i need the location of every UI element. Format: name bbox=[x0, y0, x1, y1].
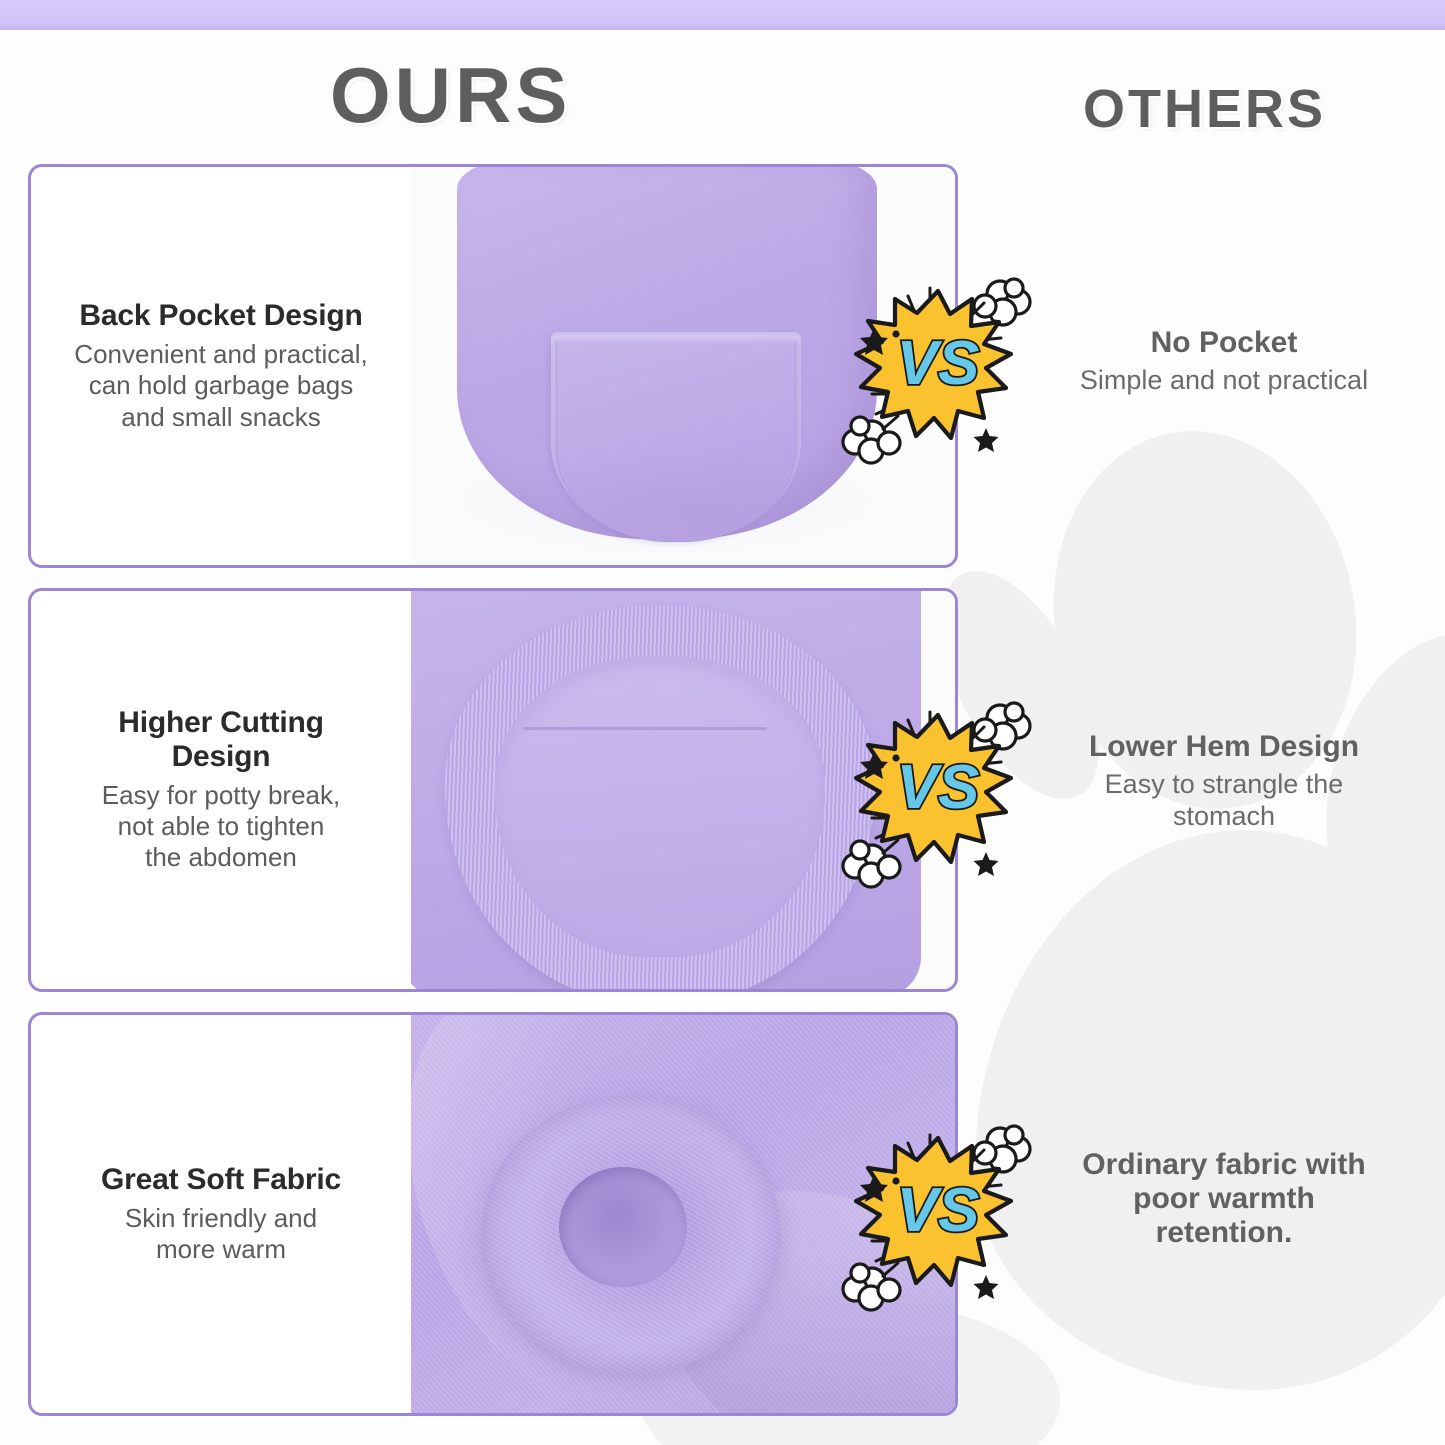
ours-feature-title: Back Pocket Design bbox=[79, 299, 362, 333]
fabric-texture bbox=[411, 1015, 955, 1413]
ours-feature-description: Convenient and practical,can hold garbag… bbox=[74, 339, 367, 433]
others-feature-description: Simple and not practical bbox=[1024, 364, 1424, 396]
ours-text-panel: Higher CuttingDesign Easy for potty brea… bbox=[31, 591, 411, 989]
others-feature-description: Easy to strangle thestomach bbox=[1024, 768, 1424, 833]
ours-feature-description: Easy for potty break,not able to tighten… bbox=[102, 780, 340, 874]
others-feature-title: No Pocket bbox=[1024, 326, 1424, 360]
others-text-block: Lower Hem Design Easy to strangle thesto… bbox=[1024, 730, 1424, 833]
product-photo-hem-opening bbox=[411, 591, 955, 989]
paw-main-pad-icon bbox=[975, 830, 1445, 1390]
ours-text-panel: Great Soft Fabric Skin friendly andmore … bbox=[31, 1015, 411, 1413]
others-text-block: No Pocket Simple and not practical bbox=[1024, 326, 1424, 396]
fabric-swirl bbox=[481, 1095, 781, 1375]
product-photo-soft-fabric bbox=[411, 1015, 955, 1413]
top-accent-bar bbox=[0, 0, 1445, 30]
hem-inner-opening bbox=[495, 657, 825, 957]
photo-shadow bbox=[451, 447, 881, 557]
others-heading: OTHERS bbox=[1083, 82, 1326, 136]
ours-text-panel: Back Pocket Design Convenient and practi… bbox=[31, 167, 411, 565]
ours-feature-title: Great Soft Fabric bbox=[101, 1163, 341, 1197]
ours-heading: OURS bbox=[330, 56, 571, 134]
others-feature-title: Ordinary fabric withpoor warmthretention… bbox=[1024, 1148, 1424, 1250]
comparison-infographic: OURS OTHERS Back Pocket Design Convenien… bbox=[0, 0, 1445, 1445]
ours-feature-title: Higher CuttingDesign bbox=[118, 706, 324, 774]
comparison-card-soft-fabric: Great Soft Fabric Skin friendly andmore … bbox=[28, 1012, 958, 1416]
ours-feature-description: Skin friendly andmore warm bbox=[125, 1203, 317, 1265]
others-text-block: Ordinary fabric withpoor warmthretention… bbox=[1024, 1148, 1424, 1254]
others-feature-title: Lower Hem Design bbox=[1024, 730, 1424, 764]
comparison-card-higher-cutting: Higher CuttingDesign Easy for potty brea… bbox=[28, 588, 958, 992]
comparison-card-back-pocket: Back Pocket Design Convenient and practi… bbox=[28, 164, 958, 568]
hem-seam-line bbox=[523, 727, 767, 730]
product-photo-back-pocket bbox=[411, 167, 955, 565]
